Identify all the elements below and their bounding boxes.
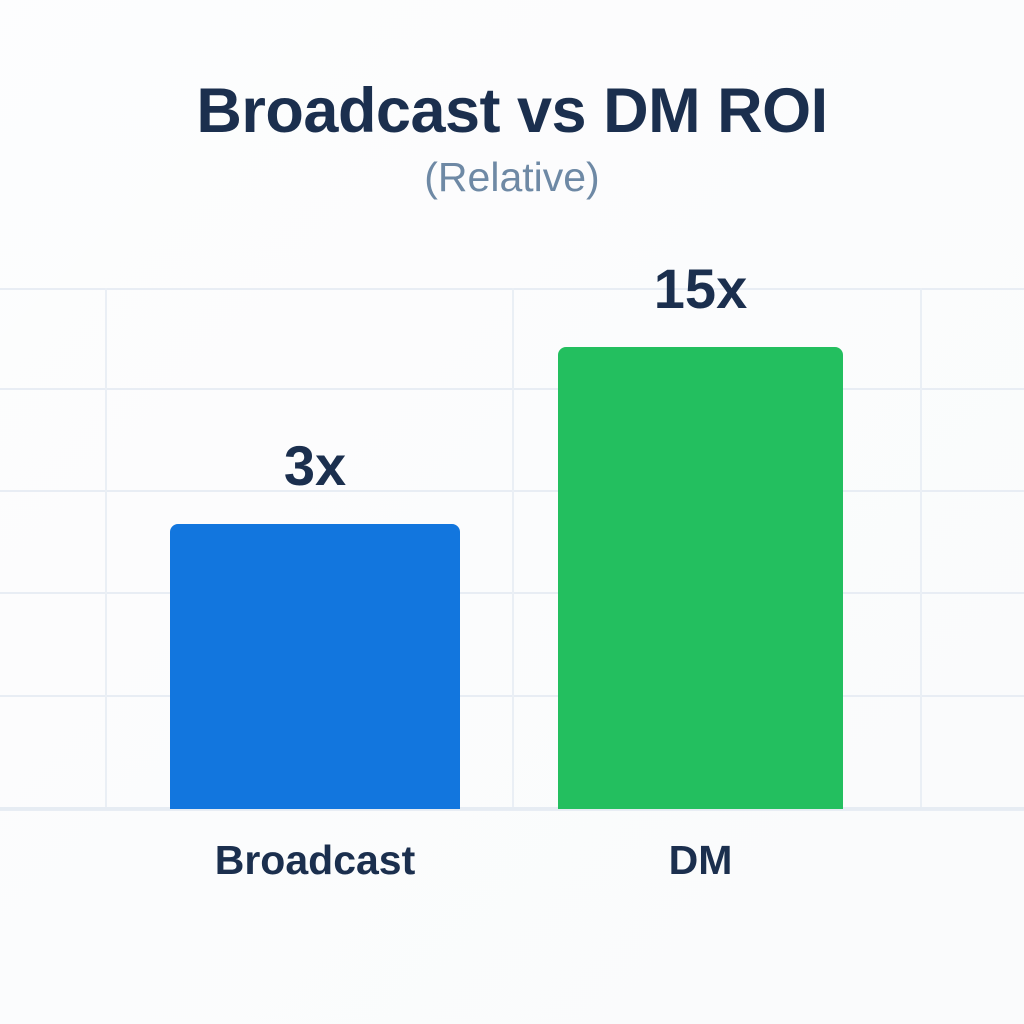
category-label-broadcast: Broadcast [170, 838, 460, 883]
plot-area [0, 288, 1024, 810]
gridline-vertical [105, 288, 107, 810]
chart-title: Broadcast vs DM ROI [0, 78, 1024, 144]
x-axis-baseline [0, 807, 1024, 810]
gridline-vertical [920, 288, 922, 810]
bar-value-label-broadcast: 3x [170, 438, 460, 494]
category-label-dm: DM [558, 838, 843, 883]
chart-header: Broadcast vs DM ROI (Relative) [0, 78, 1024, 199]
chart-subtitle: (Relative) [0, 156, 1024, 199]
bar-broadcast[interactable] [170, 524, 460, 809]
bar-value-label-dm: 15x [558, 261, 843, 317]
bar-dm[interactable] [558, 347, 843, 809]
chart-canvas: Broadcast vs DM ROI (Relative) 3x15x Bro… [0, 0, 1024, 1024]
gridline-vertical [512, 288, 514, 810]
